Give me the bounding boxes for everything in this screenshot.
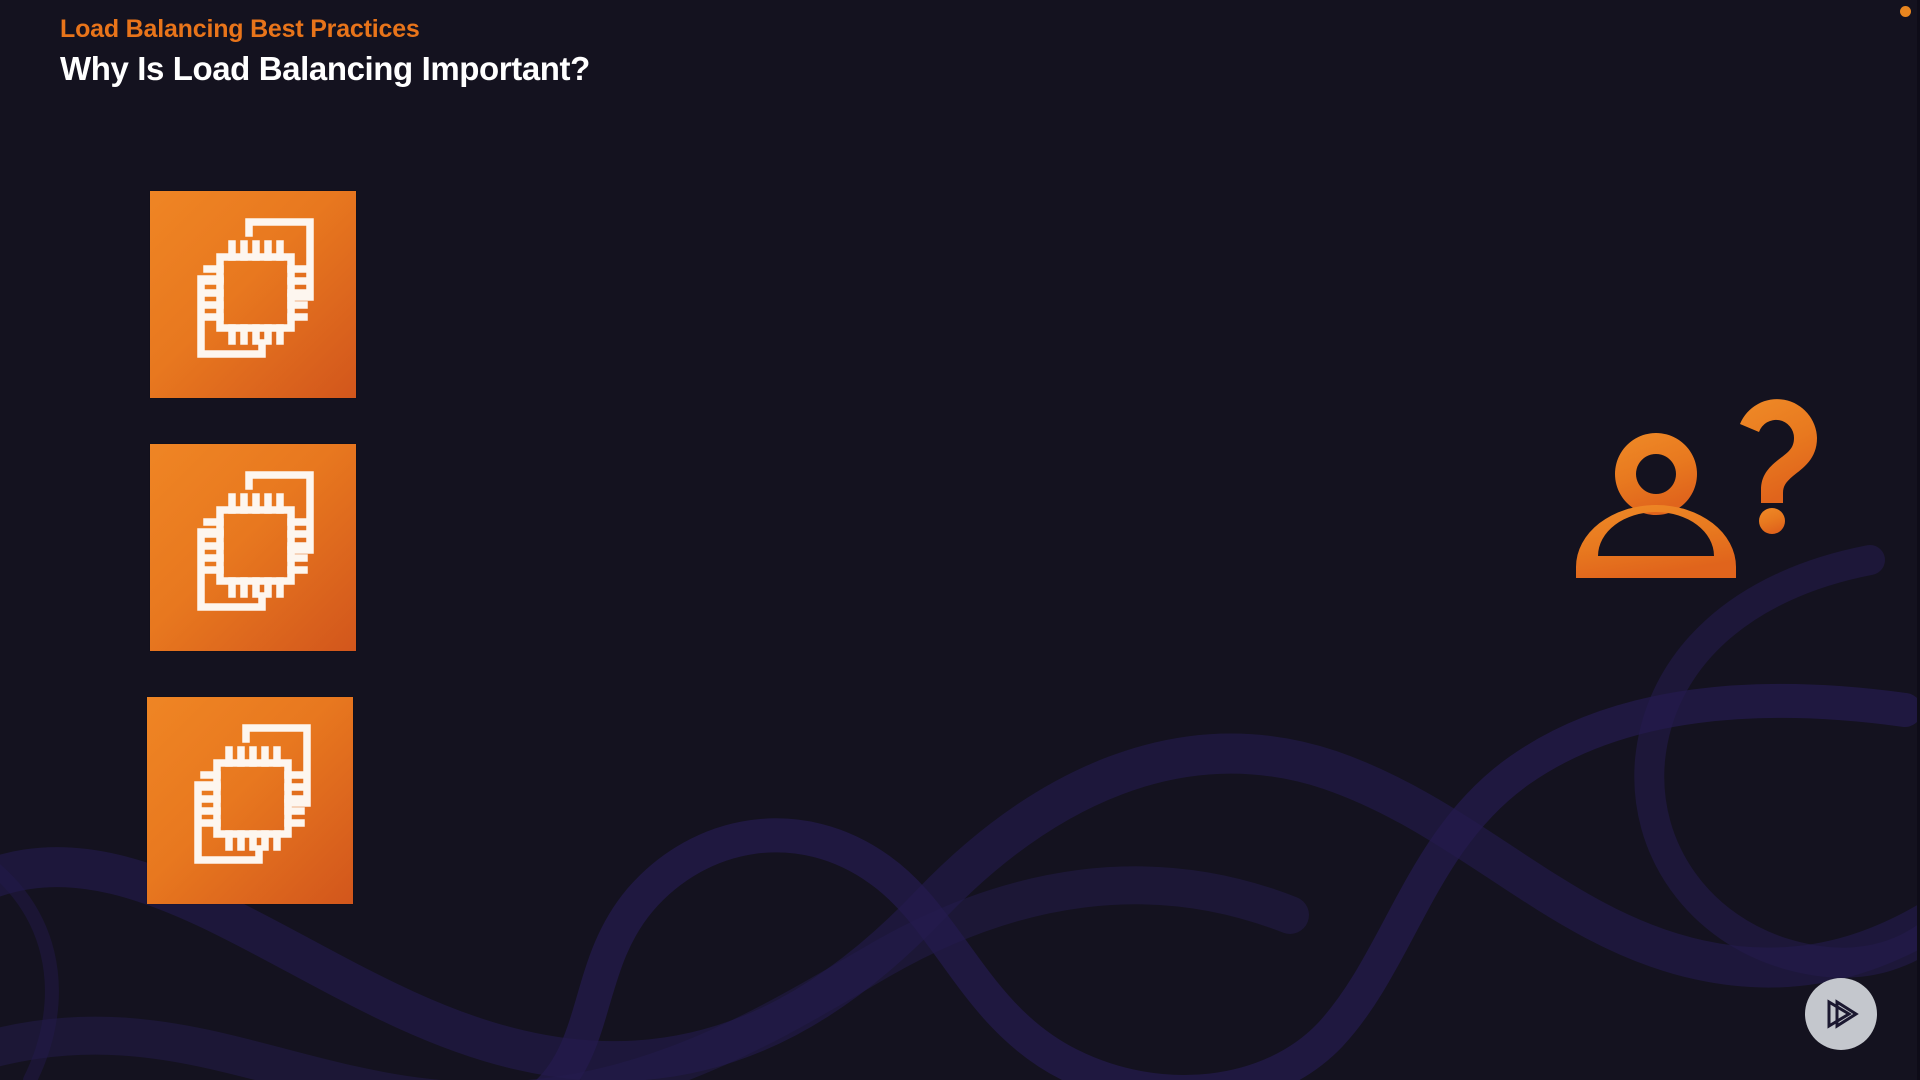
slide-canvas: Load Balancing Best Practices Why Is Loa… (0, 0, 1920, 1080)
double-play-logo-icon (1820, 993, 1862, 1035)
header: Load Balancing Best Practices Why Is Loa… (60, 14, 1260, 90)
compute-chip-icon (150, 191, 356, 398)
eyebrow-label: Load Balancing Best Practices (60, 14, 1260, 45)
compute-chip-icon (150, 444, 356, 651)
brand-play-badge[interactable] (1805, 978, 1877, 1050)
compute-chip-icon (147, 697, 353, 904)
compute-instance-tile-1[interactable] (150, 191, 356, 398)
status-dot-icon (1900, 6, 1911, 17)
person-question-mark-illustration (1555, 380, 1830, 650)
compute-instance-tile-2[interactable] (150, 444, 356, 651)
person-question-mark-icon (1555, 380, 1830, 650)
compute-instance-tile-3[interactable] (147, 697, 353, 904)
page-title: Why Is Load Balancing Important? (60, 48, 1260, 89)
